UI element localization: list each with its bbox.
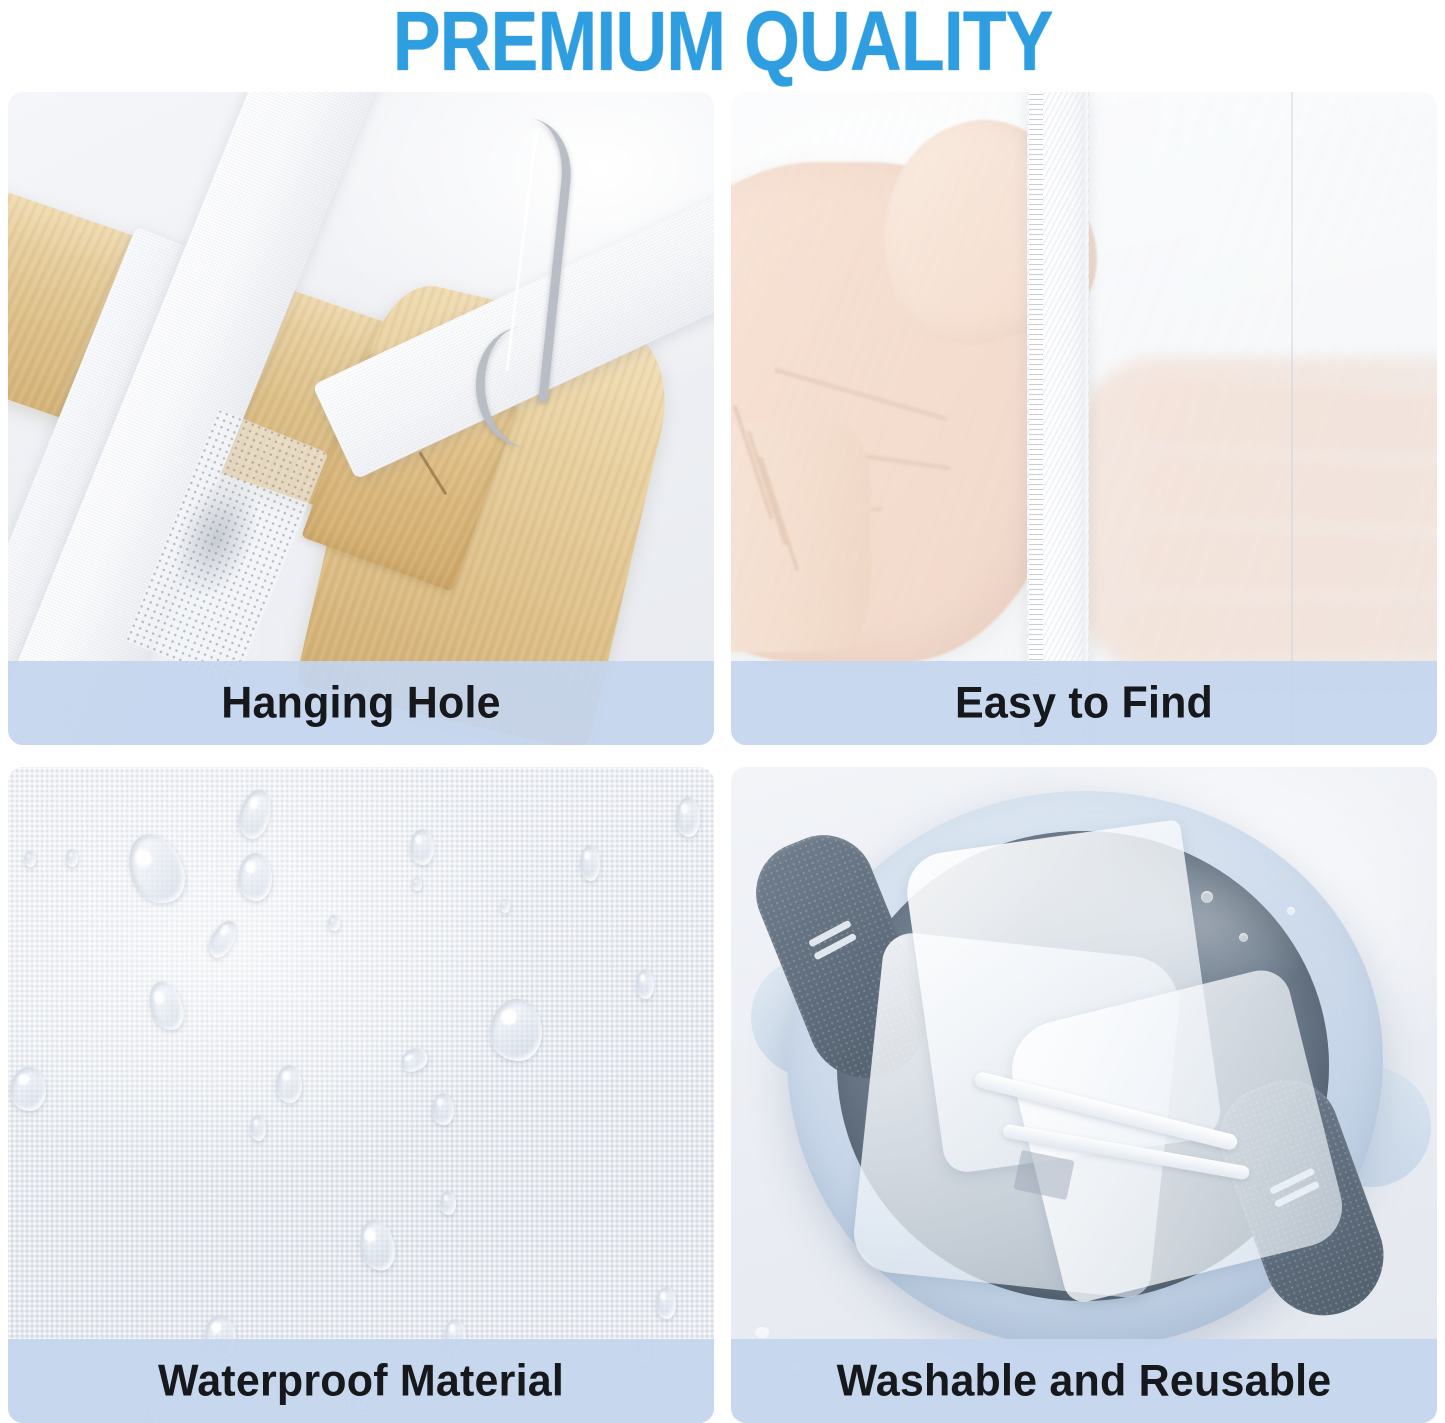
- water-droplet: [328, 915, 340, 931]
- water-droplet: [10, 1067, 46, 1111]
- zipper-teeth: [1029, 92, 1043, 745]
- water-droplet: [276, 1065, 302, 1103]
- photo-waterproof-material: [8, 767, 714, 1423]
- photo-easy-to-find: [731, 92, 1437, 745]
- water-droplet: [490, 999, 542, 1061]
- caption-bar-hanging-hole: Hanging Hole: [8, 661, 714, 745]
- water-droplet: [432, 1093, 454, 1125]
- feature-panel-hanging-hole[interactable]: Hanging Hole: [8, 92, 714, 745]
- photo-washable-and-reusable: [731, 767, 1437, 1423]
- water-droplet: [636, 969, 654, 999]
- feature-grid: Hanging Hole: [8, 92, 1437, 1423]
- water-droplet: [676, 797, 700, 837]
- water-droplet: [656, 1287, 676, 1319]
- feature-panel-washable-and-reusable[interactable]: Washable and Reusable: [731, 767, 1437, 1423]
- caption-label: Waterproof Material: [158, 1356, 564, 1407]
- feature-panel-easy-to-find[interactable]: Easy to Find: [731, 92, 1437, 745]
- water-droplet: [440, 1191, 456, 1215]
- garment-bag-soaking: [851, 825, 1321, 1295]
- water-droplet: [66, 849, 78, 867]
- page-title: PREMIUM QUALITY: [393, 0, 1053, 80]
- water-droplet: [410, 829, 434, 865]
- water-droplet: [412, 877, 422, 891]
- caption-bar-easy-to-find: Easy to Find: [731, 661, 1437, 745]
- caption-bar-waterproof-material: Waterproof Material: [8, 1339, 714, 1423]
- water-droplet: [250, 1115, 266, 1141]
- water-droplet: [238, 853, 272, 901]
- caption-label: Washable and Reusable: [837, 1356, 1332, 1407]
- header: PREMIUM QUALITY: [0, 0, 1445, 92]
- caption-bar-washable-and-reusable: Washable and Reusable: [731, 1339, 1437, 1423]
- feature-panel-waterproof-material[interactable]: Waterproof Material: [8, 767, 714, 1423]
- water-droplet: [500, 899, 510, 913]
- caption-label: Easy to Find: [955, 678, 1213, 729]
- caption-label: Hanging Hole: [221, 678, 501, 729]
- zipper-edge: [1083, 92, 1088, 745]
- water-droplet: [24, 851, 36, 867]
- water-droplet: [580, 845, 600, 881]
- photo-hanging-hole: [8, 92, 714, 745]
